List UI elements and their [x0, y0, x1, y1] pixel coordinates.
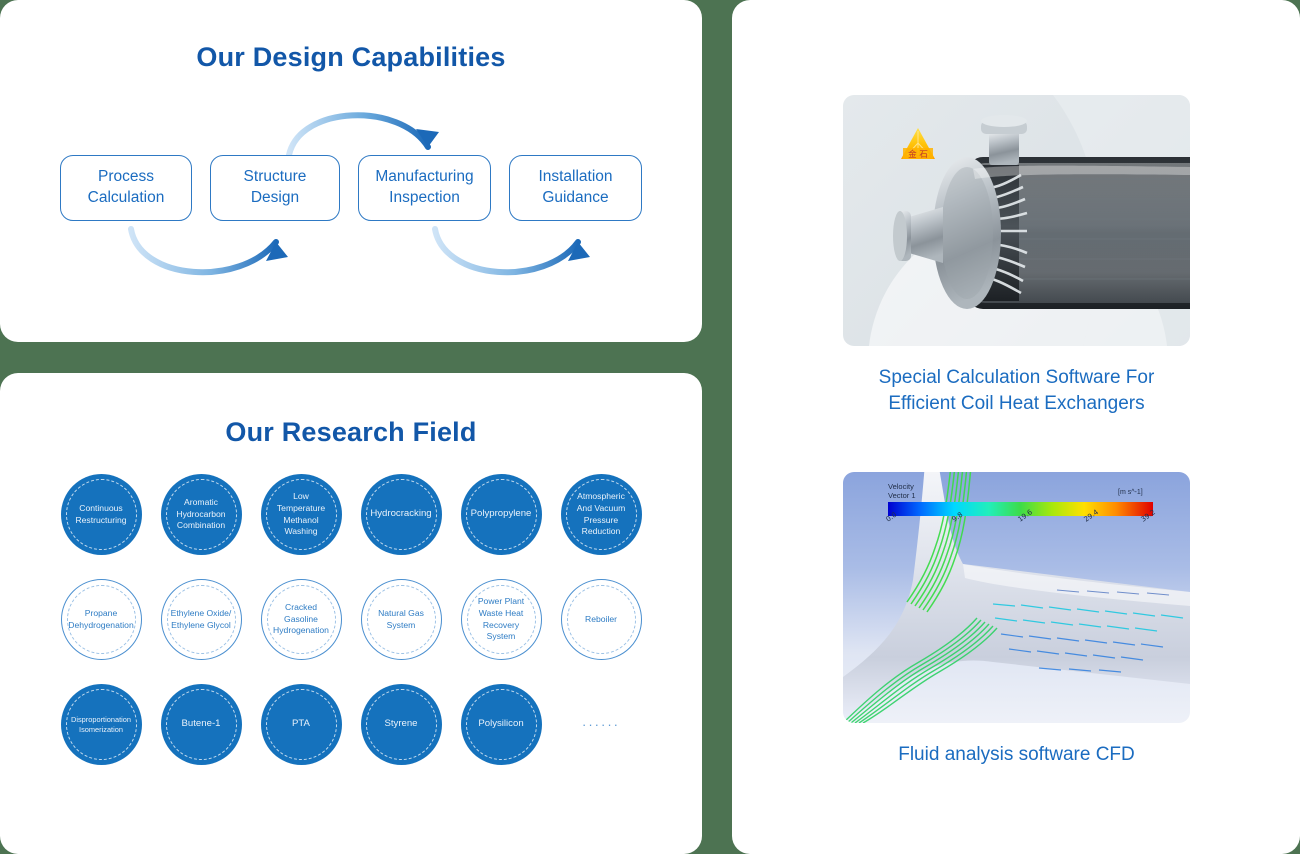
research-item-power-plant-waste-heat-recovery-system[interactable]: Power Plant Waste Heat Recovery System — [461, 579, 542, 660]
page-title-design-capabilities: Our Design Capabilities — [0, 42, 702, 73]
research-item-atmospheric-and-vacuum-pressure-reduction[interactable]: Atmospheric And Vacuum Pressure Reductio… — [561, 474, 642, 555]
research-item-label: Reboiler — [578, 614, 624, 626]
research-item-hydrocracking[interactable]: Hydrocracking — [361, 474, 442, 555]
arrowhead-structure-to-manufacturing — [416, 129, 439, 147]
research-item-polypropylene[interactable]: Polypropylene — [461, 474, 542, 555]
arrow-structure-to-manufacturing — [289, 115, 428, 155]
legend-title-line2: Vector 1 — [888, 491, 916, 500]
research-item-label: PTA — [285, 718, 317, 731]
arrowhead-process-to-structure — [266, 242, 288, 261]
research-field-card: Our Research Field Continuous Restructur… — [0, 373, 702, 854]
research-item-label: Disproportionation Isomerization — [64, 715, 138, 735]
research-item-label: Low Temperature Methanol Washing — [270, 491, 332, 537]
research-item-aromatic-hydrocarbon-combination[interactable]: Aromatic Hydrocarbon Combination — [161, 474, 242, 555]
research-item-disproportionation-isomerization[interactable]: Disproportionation Isomerization — [61, 684, 142, 765]
legend-units: [m s^-1] — [1118, 489, 1143, 496]
research-item-polysilicon[interactable]: Polysilicon — [461, 684, 542, 765]
coil-heat-exchanger-render[interactable]: 金 石 — [843, 95, 1190, 346]
research-field-grid: Continuous Restructuring Aromatic Hydroc… — [51, 474, 651, 765]
cfd-caption: Fluid analysis software CFD — [843, 742, 1190, 768]
coil-heat-exchanger-block: 金 石 Special Calculation Software For Eff… — [843, 95, 1190, 416]
research-item-label: Hydrocracking — [363, 508, 438, 521]
capability-step-installation-guidance[interactable]: Installation Guidance — [509, 155, 642, 221]
software-showcase-card: 金 石 Special Calculation Software For Eff… — [732, 0, 1300, 854]
research-item-continuous-restructuring[interactable]: Continuous Restructuring — [61, 474, 142, 555]
arrow-manufacturing-to-installation — [435, 229, 578, 272]
cfd-velocity-render[interactable]: Velocity Vector 1 [m s^-1] 0.0 9.8 19.6 … — [843, 472, 1190, 723]
research-item-low-temperature-methanol-washing[interactable]: Low Temperature Methanol Washing — [261, 474, 342, 555]
design-capabilities-card: Our Design Capabilities — [0, 0, 702, 342]
research-more-ellipsis: ······ — [561, 684, 642, 765]
coil-heat-exchanger-caption: Special Calculation Software For Efficie… — [843, 365, 1190, 416]
research-item-label: Atmospheric And Vacuum Pressure Reductio… — [570, 491, 633, 537]
research-item-cracked-gasoline-hydrogenation[interactable]: Cracked Gasoline Hydrogenation — [261, 579, 342, 660]
research-item-label: Natural Gas System — [371, 608, 431, 631]
capability-step-manufacturing-inspection[interactable]: Manufacturing Inspection — [358, 155, 491, 221]
research-item-label: Continuous Restructuring — [68, 503, 133, 526]
research-item-label: Aromatic Hydrocarbon Combination — [169, 497, 232, 532]
research-item-natural-gas-system[interactable]: Natural Gas System — [361, 579, 442, 660]
research-item-pta[interactable]: PTA — [261, 684, 342, 765]
research-item-label: Polypropylene — [464, 508, 539, 521]
research-item-butene-1[interactable]: Butene-1 — [161, 684, 242, 765]
research-item-label: Propane Dehydrogenation — [61, 608, 140, 631]
legend-title-line1: Velocity — [888, 482, 914, 491]
research-item-label: Power Plant Waste Heat Recovery System — [471, 596, 531, 642]
research-item-label: Polysilicon — [471, 718, 530, 731]
arrow-process-to-structure — [131, 229, 276, 272]
research-item-label: Cracked Gasoline Hydrogenation — [266, 602, 336, 637]
capability-flow-diagram: Process Calculation Structure Design Man… — [0, 99, 702, 299]
badge-text: 金 石 — [908, 149, 928, 160]
research-item-propane-dehydrogenation[interactable]: Propane Dehydrogenation — [61, 579, 142, 660]
research-item-reboiler[interactable]: Reboiler — [561, 579, 642, 660]
research-item-label: Styrene — [377, 718, 424, 731]
research-item-ethylene-oxide-ethylene-glycol[interactable]: Ethylene Oxide/ Ethylene Glycol — [161, 579, 242, 660]
research-item-styrene[interactable]: Styrene — [361, 684, 442, 765]
watermark-badge-icon: 金 石 — [901, 128, 935, 160]
capability-step-process-calculation[interactable]: Process Calculation — [60, 155, 192, 221]
page-title-research-field: Our Research Field — [0, 417, 702, 448]
cfd-block: Velocity Vector 1 [m s^-1] 0.0 9.8 19.6 … — [843, 472, 1190, 768]
capability-step-structure-design[interactable]: Structure Design — [210, 155, 340, 221]
research-item-label: Ethylene Oxide/ Ethylene Glycol — [164, 608, 239, 631]
research-item-label: Butene-1 — [175, 718, 228, 731]
arrowhead-manufacturing-to-installation — [568, 242, 590, 261]
